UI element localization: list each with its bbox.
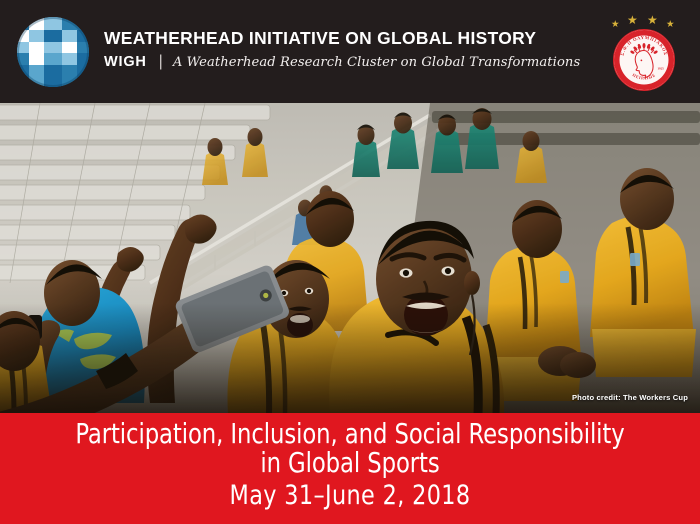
event-banner: Participation, Inclusion, and Social Res… xyxy=(0,413,700,524)
org-acronym: WIGH xyxy=(104,54,147,70)
svg-text:ΠΕΙΡΑΙΩΣ: ΠΕΙΡΑΙΩΣ xyxy=(632,72,657,80)
event-dates: May 31–June 2, 2018 xyxy=(28,481,672,511)
star-icon: ★ xyxy=(611,20,620,30)
organization-wordmark: WEATHERHEAD INITIATIVE ON GLOBAL HISTORY… xyxy=(104,28,574,71)
event-photo: Photo credit: The Workers Cup xyxy=(0,103,700,414)
event-title-line2: in Global Sports xyxy=(28,449,672,478)
globe-icon xyxy=(17,17,89,87)
event-poster: WEATHERHEAD INITIATIVE ON GLOBAL HISTORY… xyxy=(0,0,700,524)
org-title: WEATHERHEAD INITIATIVE ON GLOBAL HISTORY xyxy=(104,28,574,48)
crest-artwork: Σ.Φ.Π ΟΛΥΜΠΙΑΚΟΣ ΠΕΙΡΑΙΩΣ xyxy=(614,30,674,90)
star-icon: ★ xyxy=(627,14,638,26)
org-tagline: A Weatherhead Research Cluster on Global… xyxy=(173,55,580,70)
star-icon: ★ xyxy=(666,20,675,30)
photo-credit: Photo credit: The Workers Cup xyxy=(572,393,688,402)
svg-text:1925: 1925 xyxy=(658,67,665,71)
star-icon: ★ xyxy=(647,14,658,26)
event-title-line1: Participation, Inclusion, and Social Res… xyxy=(28,413,672,449)
crest-stars: ★ ★ ★ ★ xyxy=(609,13,679,29)
olympiacos-crest-icon: ★ ★ ★ ★ Σ.Φ.Π ΟΛΥΜΠΙΑΚΟΣ ΠΕΙΡΑΙΩΣ xyxy=(606,13,682,91)
site-header: WEATHERHEAD INITIATIVE ON GLOBAL HISTORY… xyxy=(0,0,700,103)
wordmark-divider: | xyxy=(159,53,163,71)
stadium-crowd-illustration xyxy=(0,103,700,414)
